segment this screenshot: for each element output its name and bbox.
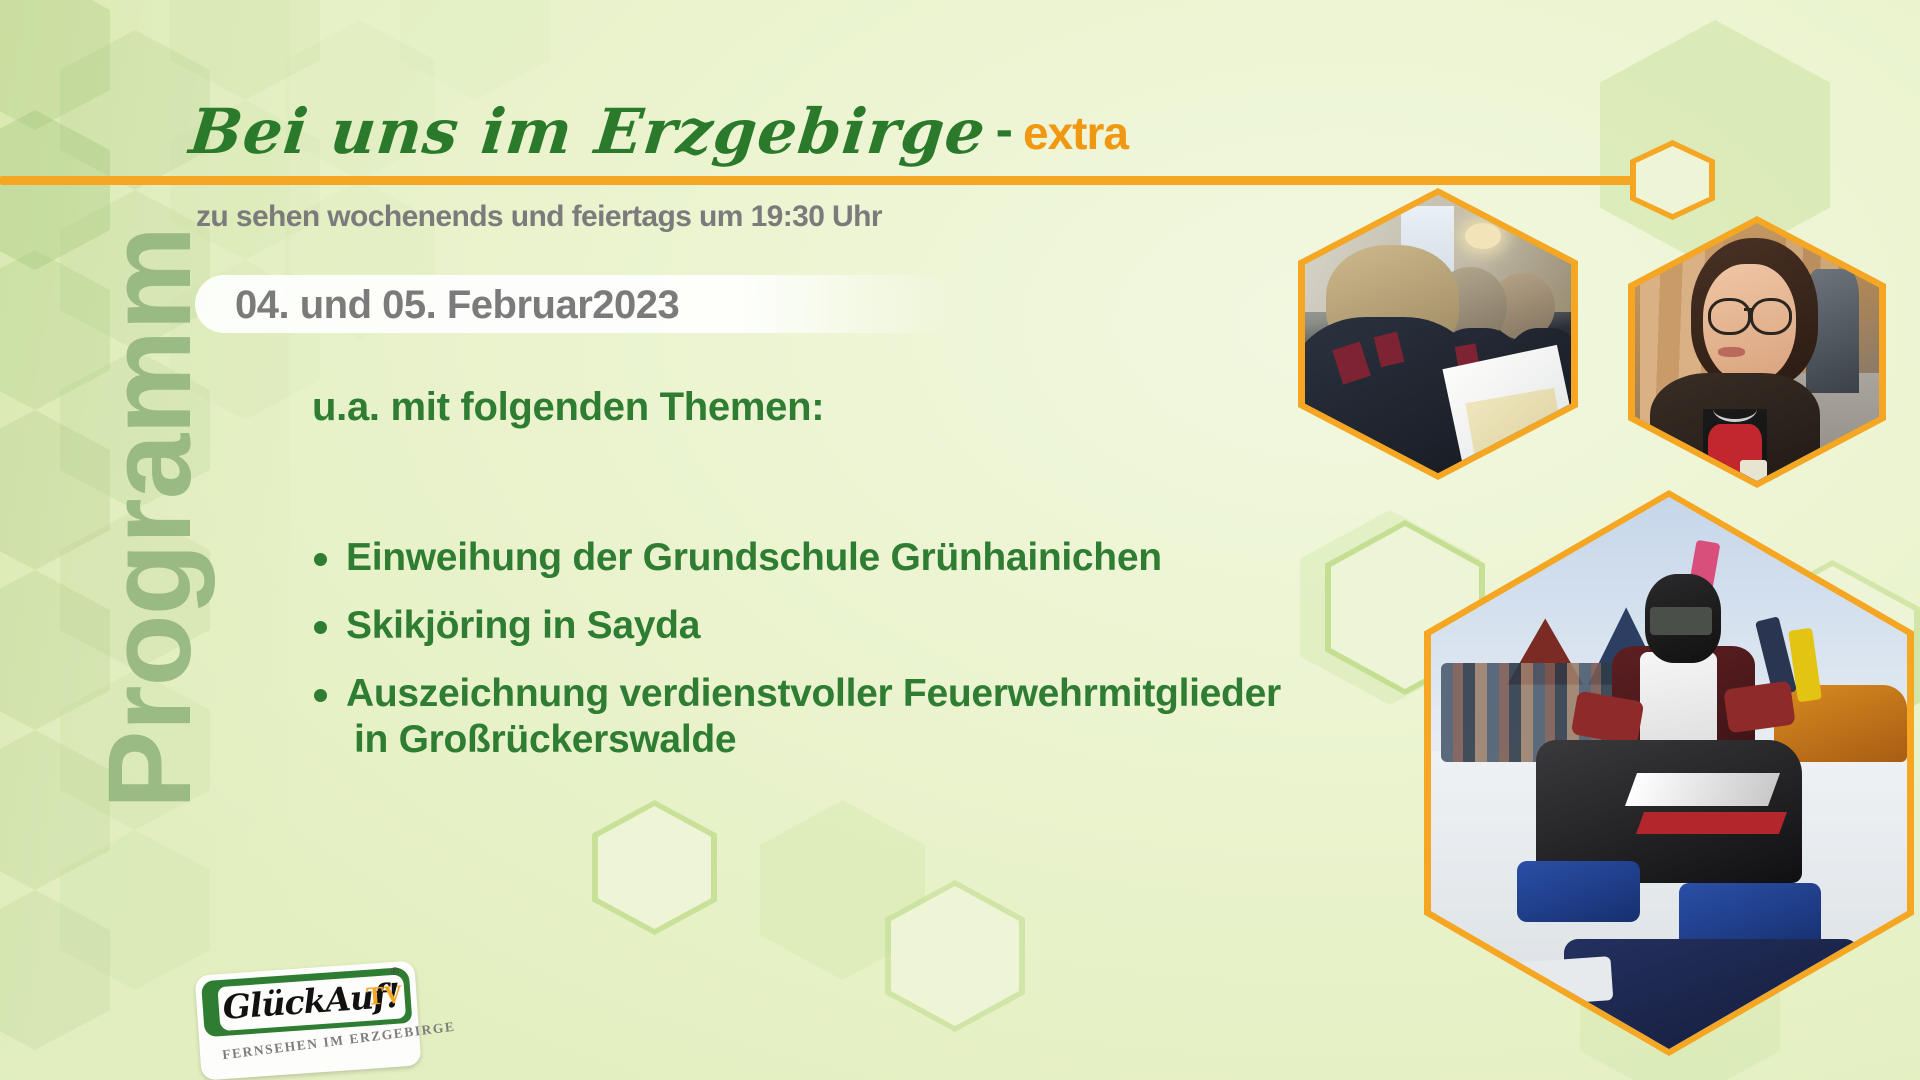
bg-hexagon-outline — [592, 800, 717, 935]
broadcast-date: 04. und 05. Februar2023 — [235, 283, 679, 328]
photo-art — [1431, 497, 1907, 1049]
broadcast-program-slide: Bei uns im Erzgebirge-extra zu sehen woc… — [0, 0, 1920, 1080]
bg-hexagon — [400, 0, 550, 100]
photo-inner — [1431, 497, 1907, 1049]
photo-firefighters-award — [1298, 188, 1578, 480]
bg-hexagon — [170, 0, 320, 100]
show-title: Bei uns im Erzgebirge-extra — [190, 95, 1128, 168]
list-item-line2: in Großrückerswalde — [346, 717, 1281, 763]
list-item-line1: Auszeichnung verdienstvoller Feuerwehrmi… — [346, 672, 1281, 715]
glueckauf-tv-logo[interactable]: GlückAuf! TV ® FERNSEHEN IM ERZGEBIRGE — [195, 960, 422, 1080]
logo-word-part1: Glück — [222, 981, 327, 1027]
topics-list: Einweihung der Grundschule Grünhainichen… — [312, 535, 1281, 785]
topics-heading: u.a. mit folgenden Themen: — [312, 385, 824, 430]
programm-vertical-label: Programm — [82, 168, 218, 868]
list-item: Auszeichnung verdienstvoller Feuerwehrmi… — [312, 671, 1281, 763]
bg-hexagon — [0, 0, 110, 130]
registered-trademark-icon: ® — [390, 966, 399, 979]
list-item-line1: Einweihung der Grundschule Grünhainichen — [346, 536, 1162, 579]
title-separator: - — [986, 100, 1023, 160]
header-divider-rule — [0, 176, 1637, 185]
bg-hexagon — [0, 890, 110, 1050]
title-main-text: Bei uns im Erzgebirge — [186, 95, 989, 168]
photo-snowmobile-skijoering — [1424, 490, 1914, 1056]
photo-interview-woman — [1628, 216, 1886, 488]
list-item: Skikjöring in Sayda — [312, 603, 1281, 649]
bg-hexagon-outline — [885, 880, 1025, 1032]
divider-hexagon-icon — [1630, 140, 1715, 220]
logo-tv-text: TV — [365, 979, 403, 1011]
broadcast-time-subtitle: zu sehen wochenends und feiertags um 19:… — [196, 200, 882, 234]
list-item-line1: Skikjöring in Sayda — [346, 604, 700, 647]
list-item: Einweihung der Grundschule Grünhainichen — [312, 535, 1281, 581]
title-extra-badge: extra — [1023, 106, 1128, 160]
bg-hexagon-large — [760, 800, 925, 980]
